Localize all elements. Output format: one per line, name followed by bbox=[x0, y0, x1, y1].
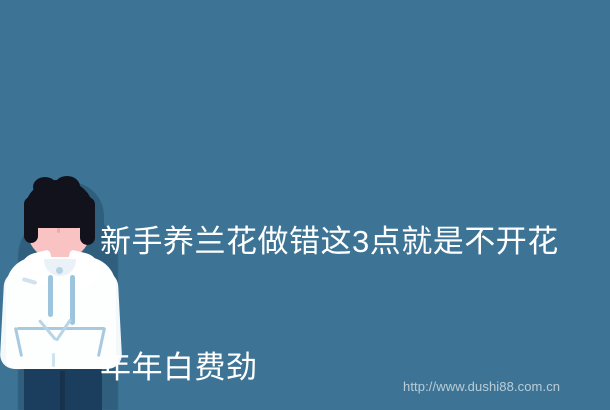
pants-leg-gap bbox=[60, 371, 65, 410]
headline-text: 新手养兰花做错这3点就是不开花 年年白费劲 bbox=[100, 137, 570, 410]
drawstring-knot bbox=[56, 267, 63, 274]
article-cover-image: 新手养兰花做错这3点就是不开花 年年白费劲 http://www.dushi88… bbox=[0, 0, 610, 410]
hoodie-hem-fold bbox=[52, 353, 55, 367]
drawstring-left bbox=[48, 275, 53, 317]
watermark-url: http://www.dushi88.com.cn bbox=[403, 379, 560, 394]
headline-line-1: 新手养兰花做错这3点就是不开花 bbox=[100, 221, 570, 263]
drawstring-right bbox=[70, 275, 75, 325]
hair-fringe bbox=[30, 193, 88, 209]
